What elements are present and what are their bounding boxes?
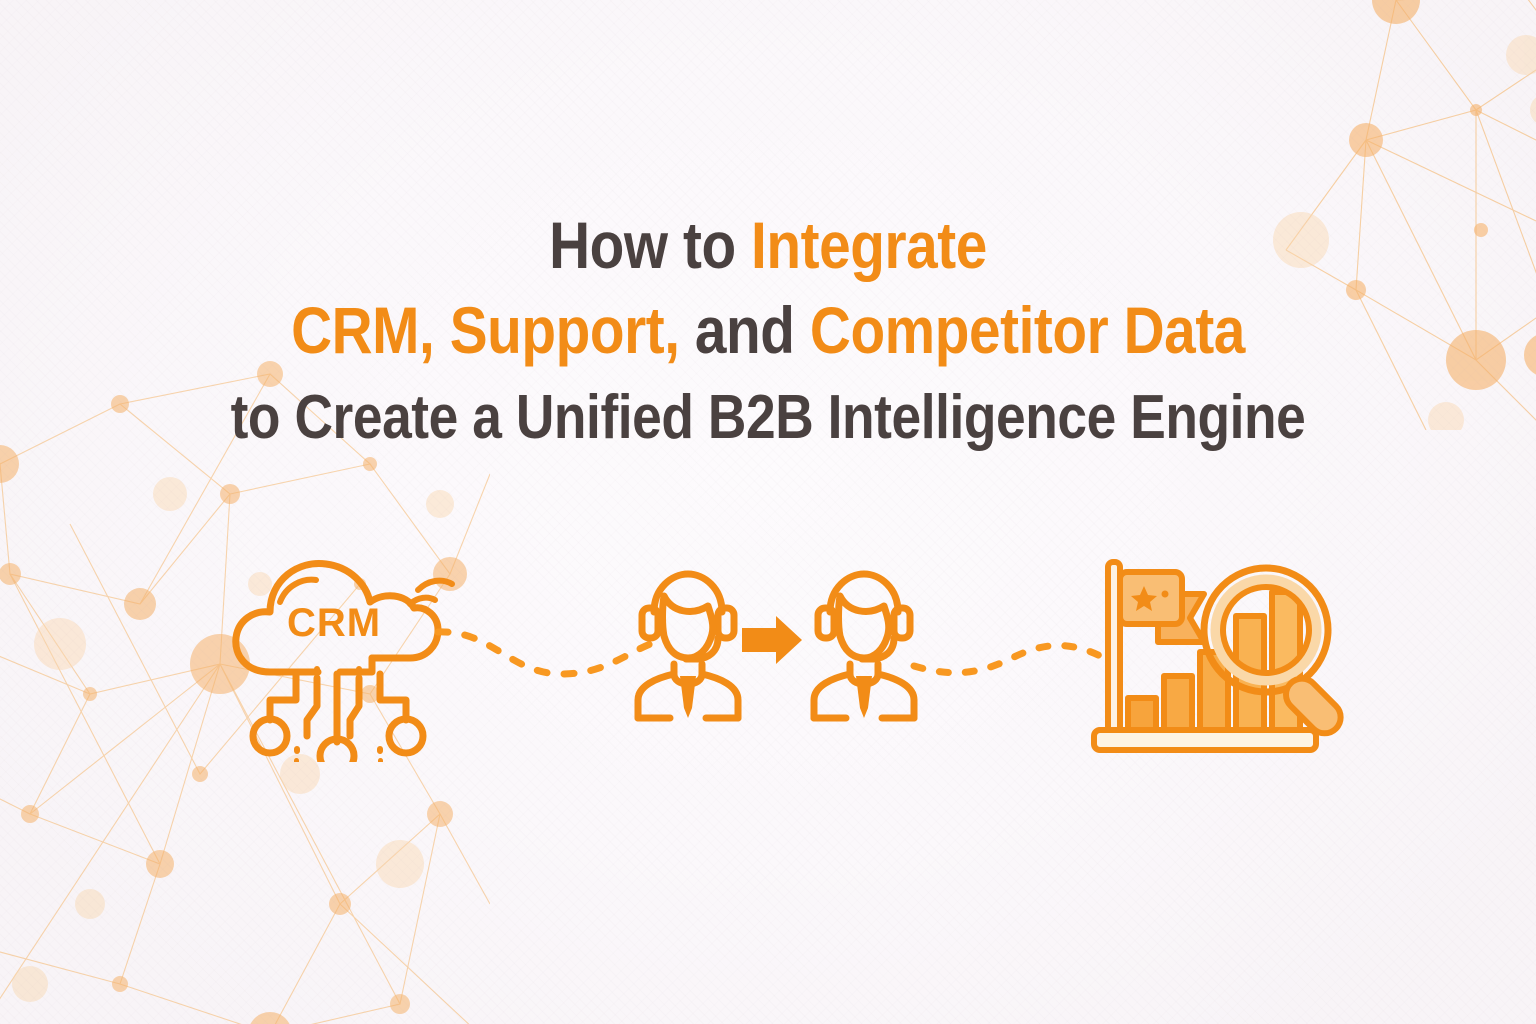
title-line-3-part-1: to Create a Unified B2B Intelligence Eng… bbox=[231, 383, 1306, 452]
crm-cloud-icon: CRM bbox=[222, 550, 462, 762]
title-line-1-part-1: How to bbox=[549, 208, 751, 282]
competitor-analytics-icon bbox=[1086, 552, 1368, 758]
support-agents-icon bbox=[630, 566, 922, 726]
title-line-2: CRM, Support, and Competitor Data bbox=[108, 286, 1429, 374]
title-line-3: to Create a Unified B2B Intelligence Eng… bbox=[108, 374, 1429, 462]
blog-banner: How to Integrate CRM, Support, and Compe… bbox=[0, 0, 1536, 1024]
icon-row: CRM bbox=[0, 548, 1536, 778]
title-line-2-part-1: CRM, Support, bbox=[291, 293, 680, 367]
page-title: How to Integrate CRM, Support, and Compe… bbox=[0, 204, 1536, 462]
title-line-2-part-3: Competitor Data bbox=[810, 293, 1245, 367]
title-line-2-part-2: and bbox=[680, 293, 810, 367]
bar-1 bbox=[1128, 698, 1156, 732]
transfer-arrow-icon bbox=[742, 616, 802, 664]
crm-cloud-label: CRM bbox=[287, 601, 381, 645]
background-texture bbox=[0, 0, 1536, 1024]
connector-crm-to-support bbox=[432, 616, 662, 688]
connector-support-to-analytics bbox=[908, 614, 1114, 686]
title-line-1-part-2: Integrate bbox=[751, 208, 987, 282]
bar-2 bbox=[1164, 676, 1192, 732]
title-line-1: How to Integrate bbox=[108, 204, 1429, 286]
